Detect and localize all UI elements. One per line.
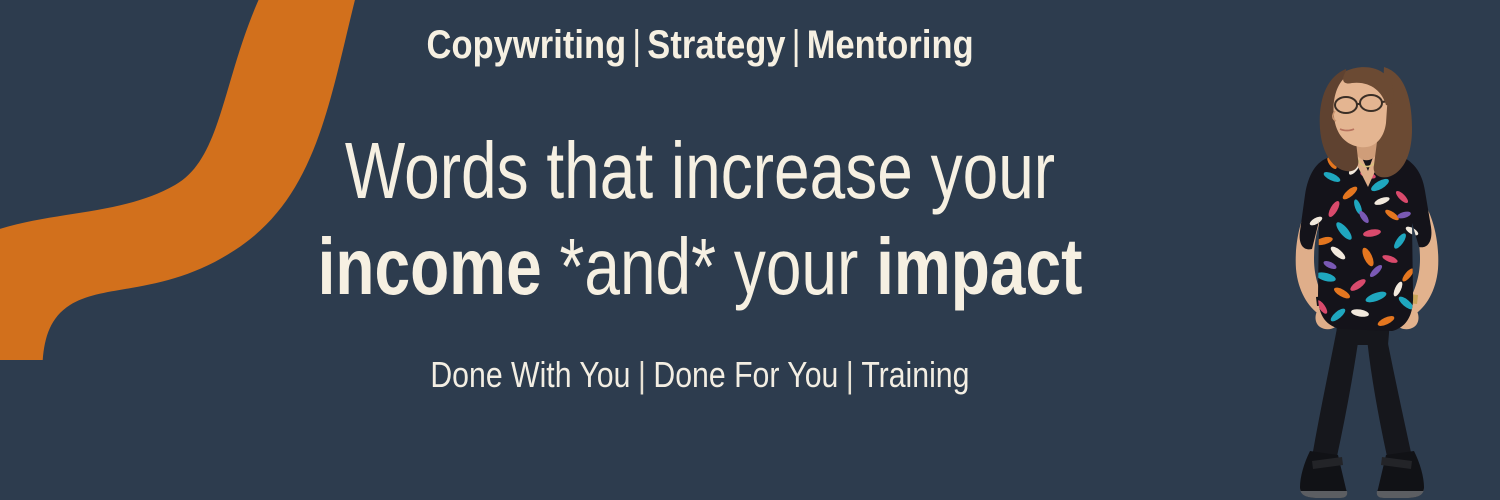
tagline-item-training: Training — [861, 354, 969, 395]
headline-line-2: income *and* your impact — [318, 222, 1083, 312]
headline-bold-income: income — [318, 222, 542, 311]
tagline-separator-2: | — [838, 353, 861, 396]
presenter-photo — [1272, 45, 1462, 500]
tagline-item-done-with-you: Done With You — [430, 354, 630, 395]
banner-copy: Copywriting|Strategy|Mentoring Words tha… — [0, 0, 1400, 500]
eyebrow-item-copywriting: Copywriting — [426, 23, 626, 67]
eyebrow-separator-1: | — [626, 22, 647, 69]
eyebrow-item-strategy: Strategy — [647, 23, 785, 67]
headline-mid-and-your: *and* your — [542, 222, 876, 311]
boots — [1300, 451, 1424, 498]
tagline-offers-line: Done With You|Done For You|Training — [430, 353, 969, 396]
tagline-item-done-for-you: Done For You — [653, 354, 838, 395]
eyebrow-separator-2: | — [786, 22, 807, 69]
tagline-separator-1: | — [631, 353, 654, 396]
headline: Words that increase your income *and* yo… — [318, 126, 1083, 311]
eyebrow-item-mentoring: Mentoring — [807, 23, 974, 67]
eyebrow-services-line: Copywriting|Strategy|Mentoring — [426, 22, 973, 68]
promo-banner: Copywriting|Strategy|Mentoring Words tha… — [0, 0, 1500, 500]
floral-top — [1300, 149, 1432, 331]
legs — [1312, 321, 1412, 461]
headline-line-1: Words that increase your — [345, 126, 1055, 215]
headline-bold-impact: impact — [876, 222, 1082, 311]
